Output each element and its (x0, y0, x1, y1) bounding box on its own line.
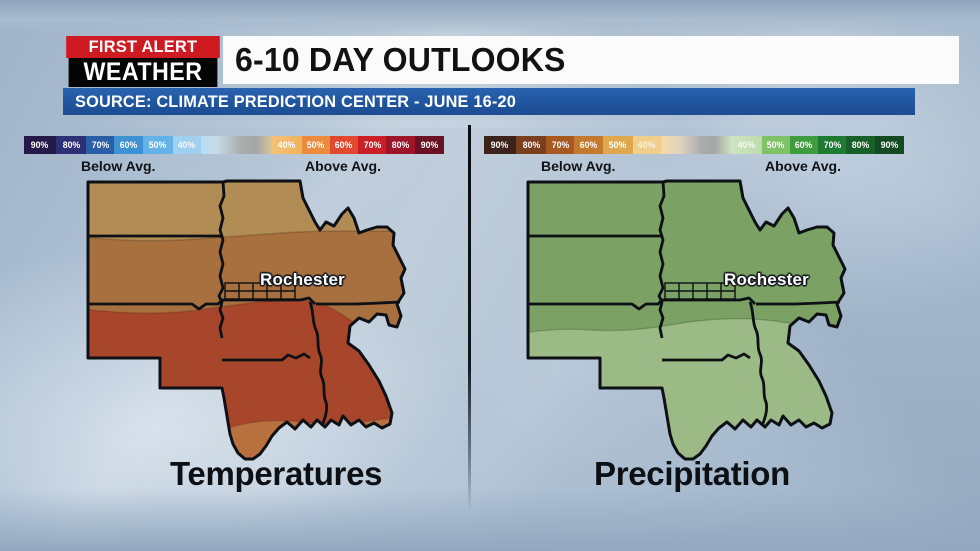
page-title-bar: 6-10 DAY OUTLOOKS (223, 36, 959, 84)
precip-legend-seg-above-40: 40% (732, 136, 761, 154)
precip-legend-seg-above-50: 50% (762, 136, 790, 154)
precip-legend-seg-above-70: 70% (818, 136, 846, 154)
legend-seg-below-80: 80% (56, 136, 86, 154)
precipitation-legend-labels: Below Avg. Above Avg. (484, 158, 904, 176)
temperature-legend-labels: Below Avg. Above Avg. (24, 158, 444, 176)
precip-legend-seg-below-80: 80% (516, 136, 546, 154)
precip-legend-seg-below-50: 50% (603, 136, 633, 154)
legend-seg-neutral (241, 136, 272, 154)
header-title-row: FIRST ALERT WEATHER 6-10 DAY OUTLOOKS (63, 36, 959, 84)
precipitation-above-avg-label: Above Avg. (765, 158, 841, 174)
temperature-city-label: Rochester (260, 270, 345, 290)
precipitation-city-label: Rochester (724, 270, 809, 290)
source-text: SOURCE: CLIMATE PREDICTION CENTER - JUNE… (75, 92, 516, 112)
weather-graphic: FIRST ALERT WEATHER 6-10 DAY OUTLOOKS SO… (0, 0, 980, 551)
source-bar: SOURCE: CLIMATE PREDICTION CENTER - JUNE… (63, 88, 915, 115)
legend-seg-above-60: 60% (330, 136, 358, 154)
page-title: 6-10 DAY OUTLOOKS (235, 41, 566, 79)
precip-legend-seg-below-60: 60% (574, 136, 602, 154)
legend-seg-below-40: 40% (173, 136, 201, 154)
legend-seg-below-70: 70% (86, 136, 114, 154)
precip-legend-seg-neutral (701, 136, 732, 154)
precipitation-below-avg-label: Below Avg. (541, 158, 615, 174)
legend-seg-above-70: 70% (358, 136, 386, 154)
precipitation-map-regions (500, 178, 900, 468)
precip-legend-seg-above-60: 60% (790, 136, 818, 154)
background-top-band (0, 0, 980, 34)
legend-seg-below-50: 50% (143, 136, 173, 154)
first-alert-weather-logo: FIRST ALERT WEATHER (63, 36, 223, 84)
precipitation-map[interactable]: Rochester (500, 178, 900, 468)
legend-seg-above-50: 50% (302, 136, 330, 154)
panel-divider (468, 125, 471, 510)
temperature-panel-title: Temperatures (170, 455, 382, 493)
legend-seg-below-60: 60% (114, 136, 142, 154)
precipitation-legend-bar: 90% 80% 70% 60% 50% 40% 40% 50% 60% 70% … (484, 136, 904, 154)
precipitation-map-svg (500, 178, 900, 468)
legend-seg-above-90: 90% (415, 136, 444, 154)
legend-seg-below-fade (201, 136, 241, 154)
temperature-map[interactable]: Rochester (60, 178, 460, 468)
legend-seg-above-80: 80% (386, 136, 414, 154)
legend-seg-above-40: 40% (272, 136, 301, 154)
precip-legend-seg-below-70: 70% (546, 136, 574, 154)
precip-legend-seg-above-80: 80% (846, 136, 874, 154)
temperature-map-regions (60, 178, 460, 468)
precip-legend-seg-below-fade (661, 136, 701, 154)
logo-weather-text: WEATHER (69, 58, 218, 87)
temperature-below-avg-label: Below Avg. (81, 158, 155, 174)
logo-first-alert-text: FIRST ALERT (66, 36, 220, 58)
background-bottom-band (0, 489, 980, 551)
temperature-above-avg-label: Above Avg. (305, 158, 381, 174)
precip-band-light (500, 319, 900, 468)
temperature-map-svg (60, 178, 460, 468)
precipitation-panel-title: Precipitation (594, 455, 790, 493)
precip-legend-seg-below-40: 40% (633, 136, 661, 154)
legend-seg-below-90: 90% (24, 136, 56, 154)
precip-legend-seg-below-90: 90% (484, 136, 516, 154)
precip-legend-seg-above-90: 90% (875, 136, 904, 154)
temperature-legend-bar: 90% 80% 70% 60% 50% 40% 40% 50% 60% 70% … (24, 136, 444, 154)
